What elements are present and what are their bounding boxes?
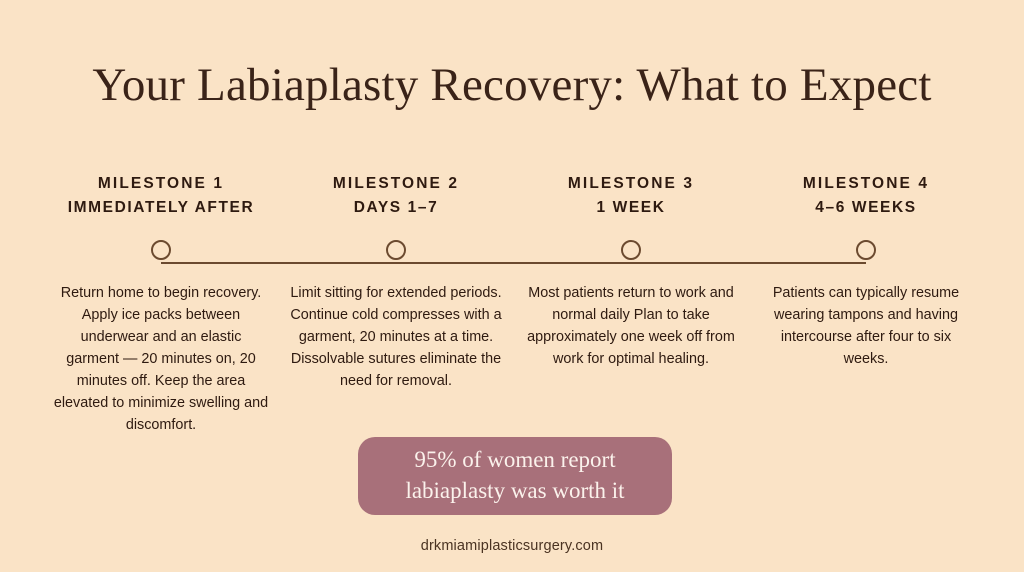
timeline-node-icon — [151, 240, 171, 260]
infographic-canvas: Your Labiaplasty Recovery: What to Expec… — [0, 0, 1024, 572]
milestone-column-1: MILESTONE 1 IMMEDIATELY AFTER Return hom… — [44, 172, 279, 436]
milestone-3-node-wrap — [621, 230, 641, 270]
recovery-timeline: MILESTONE 1 IMMEDIATELY AFTER Return hom… — [0, 172, 1024, 442]
timeline-node-icon — [386, 240, 406, 260]
footer-website: drkmiamiplasticsurgery.com — [0, 538, 1024, 554]
milestone-2-body: Limit sitting for extended periods. Cont… — [289, 282, 504, 392]
callout-line-1: 95% of women report — [414, 447, 615, 472]
milestone-2-node-wrap — [386, 230, 406, 270]
statistic-callout: 95% of women report labiaplasty was wort… — [358, 437, 672, 515]
milestone-2-period: DAYS 1–7 — [354, 196, 439, 220]
milestone-column-2: MILESTONE 2 DAYS 1–7 Limit sitting for e… — [279, 172, 514, 436]
milestone-column-4: MILESTONE 4 4–6 WEEKS Patients can typic… — [749, 172, 984, 436]
milestone-2-label: MILESTONE 2 — [333, 172, 459, 196]
milestone-3-label: MILESTONE 3 — [568, 172, 694, 196]
milestone-4-node-wrap — [856, 230, 876, 270]
milestone-column-3: MILESTONE 3 1 WEEK Most patients return … — [514, 172, 749, 436]
callout-line-2: labiaplasty was worth it — [405, 478, 624, 503]
callout-text-block: 95% of women report labiaplasty was wort… — [391, 445, 638, 506]
milestone-4-label: MILESTONE 4 — [803, 172, 929, 196]
milestone-3-body: Most patients return to work and normal … — [524, 282, 739, 370]
milestone-1-label: MILESTONE 1 — [98, 172, 224, 196]
milestone-3-period: 1 WEEK — [596, 196, 665, 220]
milestone-columns: MILESTONE 1 IMMEDIATELY AFTER Return hom… — [44, 172, 1024, 436]
milestone-4-body: Patients can typically resume wearing ta… — [759, 282, 974, 370]
milestone-1-body: Return home to begin recovery. Apply ice… — [54, 282, 269, 436]
milestone-1-node-wrap — [151, 230, 171, 270]
timeline-node-icon — [856, 240, 876, 260]
milestone-1-period: IMMEDIATELY AFTER — [68, 196, 255, 220]
timeline-node-icon — [621, 240, 641, 260]
page-title: Your Labiaplasty Recovery: What to Expec… — [0, 58, 1024, 112]
milestone-4-period: 4–6 WEEKS — [815, 196, 916, 220]
